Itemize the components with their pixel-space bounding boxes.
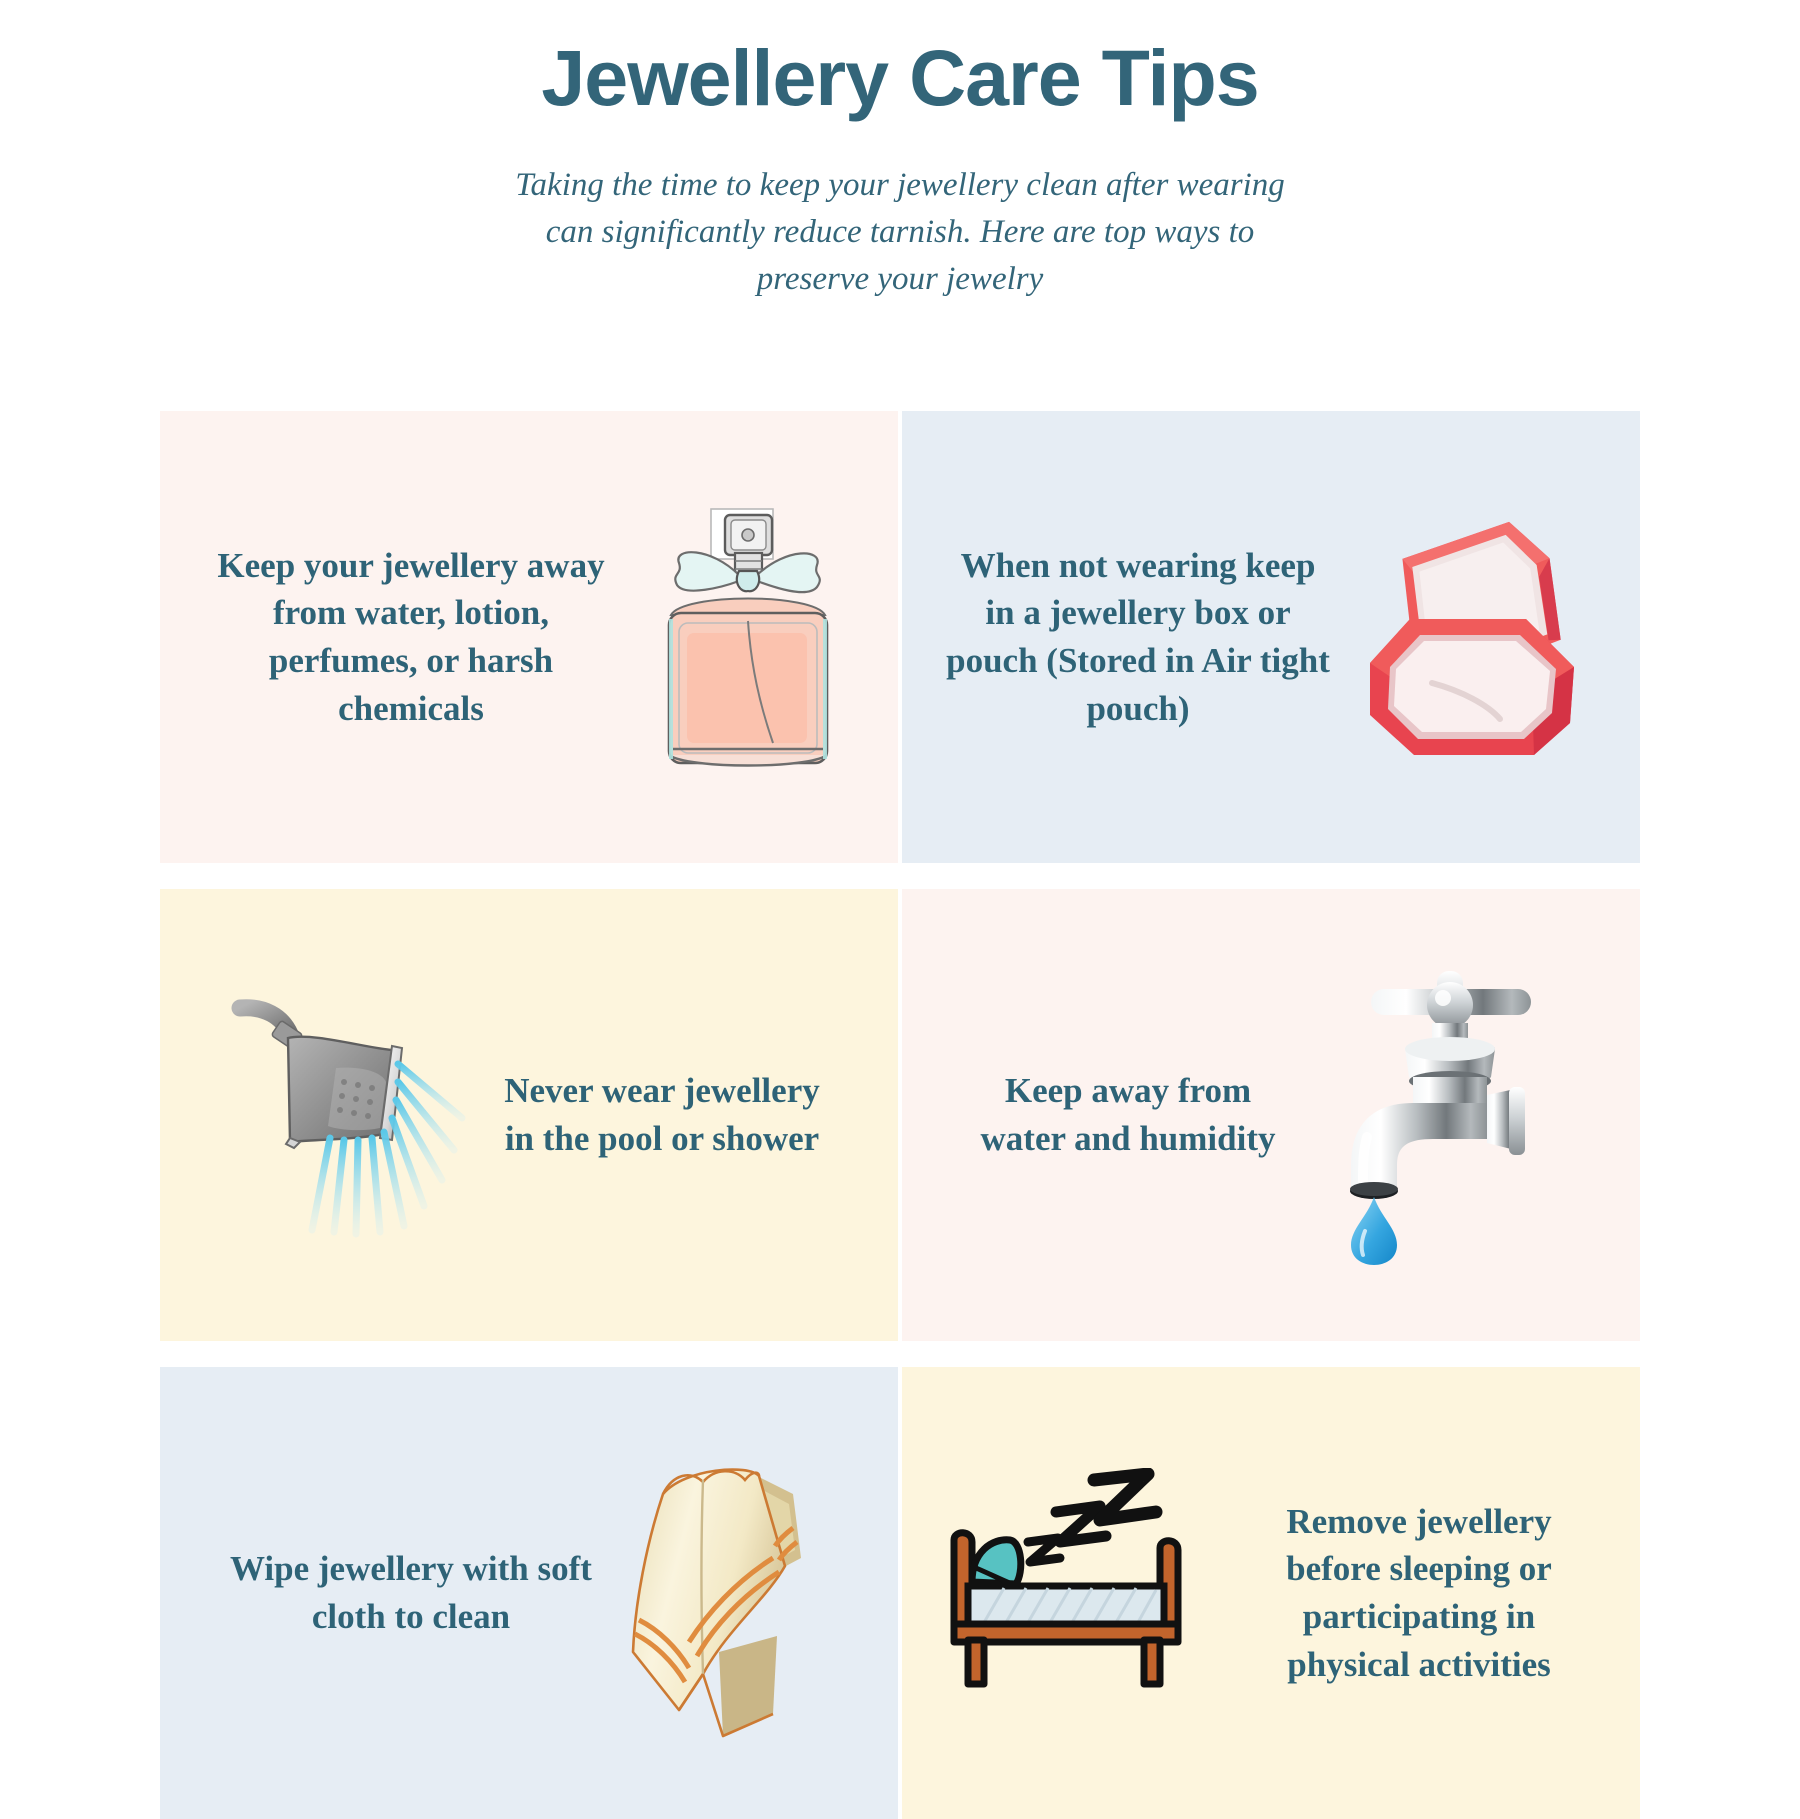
perfume-bottle-icon [627,487,857,787]
tip-text: Keep your jewellery away from water, lot… [201,542,621,732]
bed-sleeping-icon [938,1468,1228,1718]
tip-text: Wipe jewellery with soft cloth to clean [221,1545,601,1640]
tip-card-storage[interactable]: When not wearing keep in a jewellery box… [902,411,1640,863]
jewellery-box-icon [1344,507,1604,767]
faucet-icon [1309,965,1589,1265]
tip-text: Never wear jewellery in the pool or show… [482,1067,842,1162]
tip-card-humidity[interactable]: Keep away from water and humidity [902,889,1640,1341]
shower-head-icon [216,990,476,1240]
infographic-page: Jewellery Care Tips Taking the time to k… [0,0,1800,1800]
tip-card-shower[interactable]: Never wear jewellery in the pool or show… [160,889,898,1341]
tip-card-chemicals[interactable]: Keep your jewellery away from water, lot… [160,411,898,863]
page-subtitle: Taking the time to keep your jewellery c… [495,162,1305,303]
tips-grid: Keep your jewellery away from water, lot… [160,411,1639,1819]
tip-text: Remove jewellery before sleeping or part… [1234,1498,1604,1688]
tip-text: When not wearing keep in a jewellery box… [938,542,1338,732]
tip-card-sleep[interactable]: Remove jewellery before sleeping or part… [902,1367,1640,1819]
header: Jewellery Care Tips Taking the time to k… [0,0,1800,303]
polishing-cloth-icon [607,1438,837,1748]
tip-card-wipe[interactable]: Wipe jewellery with soft cloth to clean [160,1367,898,1819]
tip-text: Keep away from water and humidity [953,1067,1303,1162]
page-title: Jewellery Care Tips [0,34,1800,122]
